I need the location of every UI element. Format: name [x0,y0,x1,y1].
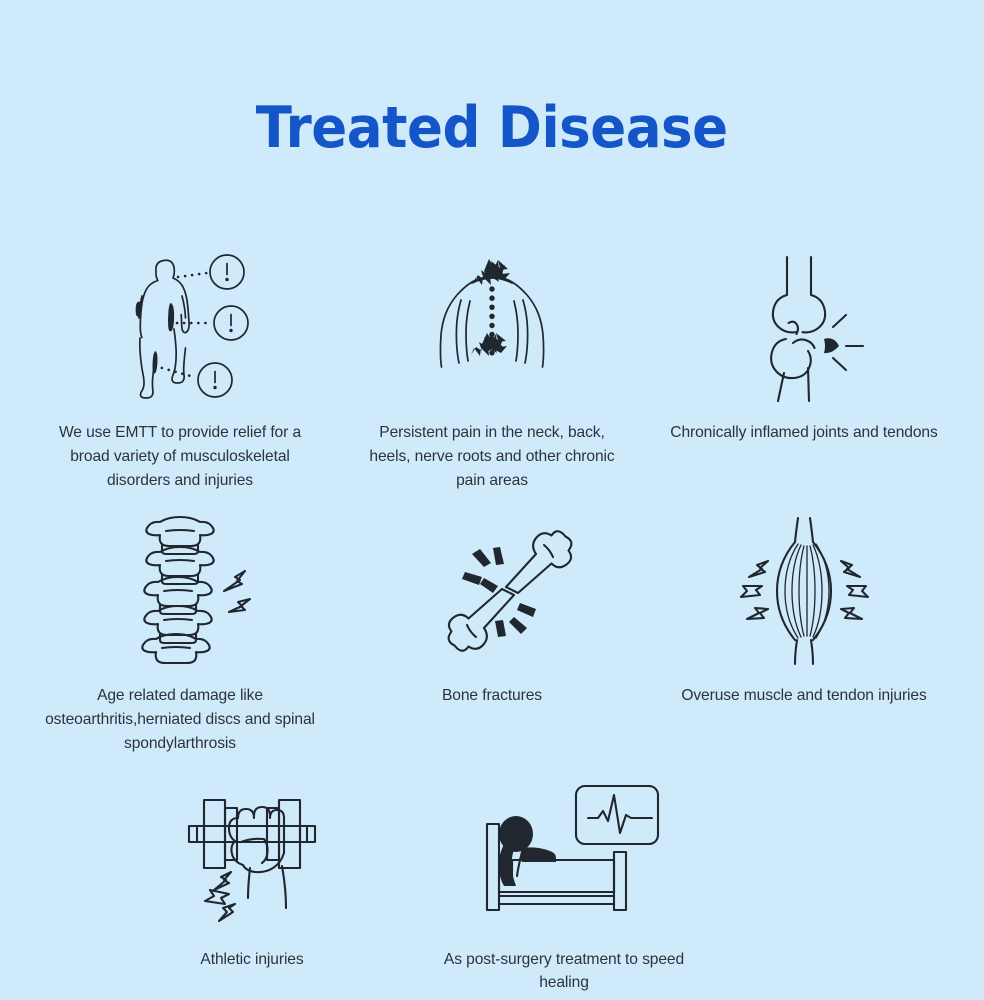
muscle-fiber-lightning-icon [722,506,887,666]
knee-joint-inflammation-icon [729,243,879,403]
hand-dumbbell-lightning-icon [167,770,337,930]
card-caption: Age related damage like osteoarthritis,h… [45,684,315,755]
cards-row-1: We use EMTT to provide relief for a broa… [24,243,960,492]
card-inflamed-joints: Chronically inflamed joints and tendons [648,243,960,492]
cards-row-2: Age related damage like osteoarthritis,h… [24,506,960,755]
card-persistent-pain: Persistent pain in the neck, back, heels… [336,243,648,492]
infographic-page: Treated Disease [0,0,984,1000]
cards-grid: We use EMTT to provide relief for a broa… [0,243,984,995]
card-caption: Athletic injuries [200,948,303,972]
card-empty-slot [720,770,984,995]
body-silhouette-alert-points-icon [98,243,263,403]
card-post-surgery: As post-surgery treatment to speed heali… [408,770,720,995]
back-spine-pain-burst-icon [410,243,575,403]
card-athletic-injuries: Athletic injuries [96,770,408,995]
card-caption: We use EMTT to provide relief for a broa… [45,421,315,492]
card-caption: Bone fractures [442,684,542,708]
card-caption: Chronically inflamed joints and tendons [670,421,937,445]
card-emtt-relief: We use EMTT to provide relief for a broa… [24,243,336,492]
card-caption: Persistent pain in the neck, back, heels… [357,421,627,492]
page-title-container: Treated Disease [0,0,984,195]
vertebrae-stack-lightning-icon [100,506,260,666]
card-caption: As post-surgery treatment to speed heali… [429,948,699,995]
page-title: Treated Disease [256,100,728,157]
cards-row-3: Athletic injuries [24,770,960,995]
hospital-bed-ecg-monitor-icon [464,770,664,930]
card-caption: Overuse muscle and tendon injuries [681,684,926,708]
card-overuse-muscle: Overuse muscle and tendon injuries [648,506,960,755]
card-age-related-damage: Age related damage like osteoarthritis,h… [24,506,336,755]
fractured-bone-icon [410,506,575,666]
card-bone-fractures: Bone fractures [336,506,648,755]
